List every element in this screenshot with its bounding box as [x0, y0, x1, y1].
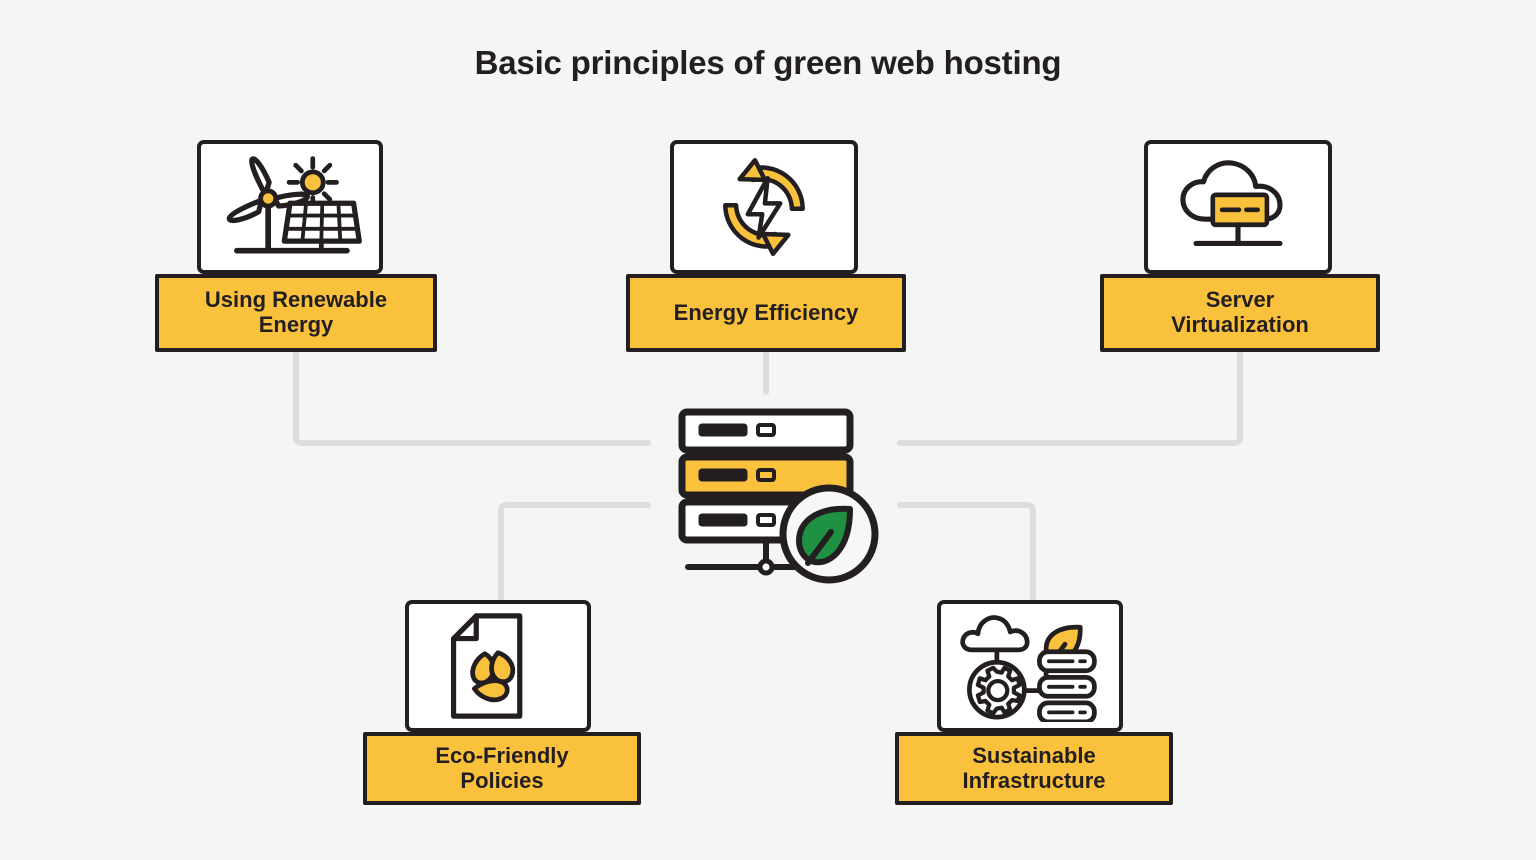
- server-stack-with-leaf-badge: [668, 400, 888, 585]
- node-eco-friendly-policies[interactable]: Eco-Friendly Policies: [363, 600, 641, 805]
- label-line-1: Server: [1206, 287, 1275, 312]
- label-text-server-virtualization: Server Virtualization: [1171, 288, 1309, 337]
- label-text-sustainable-infrastructure: Sustainable Infrastructure: [962, 744, 1105, 793]
- recycle-arrows-lightning-bolt-icon: [710, 153, 818, 261]
- node-server-virtualization[interactable]: Server Virtualization: [1100, 140, 1380, 352]
- label-line-1: Eco-Friendly: [435, 743, 568, 768]
- node-renewable-energy[interactable]: Using Renewable Energy: [155, 140, 437, 352]
- label-line-2: Virtualization: [1171, 312, 1309, 337]
- label-line-2: Energy: [259, 312, 334, 337]
- label-line-1: Sustainable: [972, 743, 1095, 768]
- label-server-virtualization[interactable]: Server Virtualization: [1100, 274, 1380, 352]
- label-text-renewable-energy: Using Renewable Energy: [205, 288, 387, 337]
- label-line-1: Using Renewable: [205, 287, 387, 312]
- label-sustainable-infrastructure[interactable]: Sustainable Infrastructure: [895, 732, 1173, 805]
- icon-box-server-virtualization: [1144, 140, 1332, 274]
- document-leaf-recycle-icon: [446, 610, 550, 722]
- center-green-server-hub: [668, 400, 888, 585]
- label-eco-friendly-policies[interactable]: Eco-Friendly Policies: [363, 732, 641, 805]
- icon-box-sustainable-infrastructure: [937, 600, 1123, 732]
- label-text-energy-efficiency: Energy Efficiency: [674, 301, 859, 326]
- label-renewable-energy[interactable]: Using Renewable Energy: [155, 274, 437, 352]
- label-text-eco-friendly-policies: Eco-Friendly Policies: [435, 744, 568, 793]
- icon-box-energy-efficiency: [670, 140, 858, 274]
- label-line-2: Infrastructure: [962, 768, 1105, 793]
- diagram-canvas: Basic principles of green web hosting: [0, 0, 1536, 860]
- cloud-gear-server-leaf-icon: [959, 610, 1101, 722]
- connector-virtualization: [900, 352, 1240, 443]
- node-energy-efficiency[interactable]: Energy Efficiency: [626, 140, 906, 352]
- node-sustainable-infrastructure[interactable]: Sustainable Infrastructure: [895, 600, 1173, 805]
- cloud-server-network-icon: [1168, 155, 1308, 259]
- connector-renewable: [296, 352, 648, 443]
- label-energy-efficiency[interactable]: Energy Efficiency: [626, 274, 906, 352]
- connector-sustainable: [900, 505, 1033, 600]
- icon-box-renewable-energy: [197, 140, 383, 274]
- wind-turbine-sun-solar-panel-icon: [214, 151, 366, 263]
- icon-box-eco-friendly-policies: [405, 600, 591, 732]
- page-title: Basic principles of green web hosting: [0, 44, 1536, 82]
- green-leaf-badge: [783, 488, 875, 580]
- label-line-2: Policies: [460, 768, 543, 793]
- connector-ecofriendly: [501, 505, 648, 600]
